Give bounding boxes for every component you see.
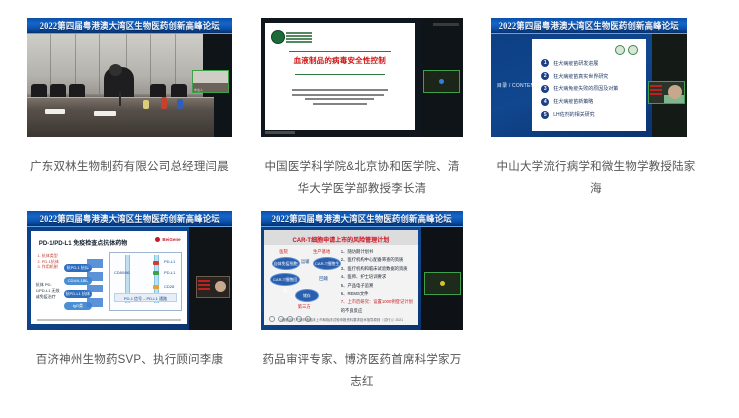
picture-in-picture-2 [423, 70, 460, 93]
slide-title-5: CAR-T细胞申请上市的风险管理计划 [264, 235, 418, 244]
risk-item-1: 1、随访期计划书 [341, 249, 413, 255]
forum-banner-1: 2022第四届粤港澳大湾区生物医药创新高峰论坛 [27, 18, 232, 33]
slide-logos [615, 45, 638, 55]
cycle-label-infusion: 回输 [319, 276, 328, 282]
gallery-caption-3: 中山大学流行病学和微生物学教授陆家海 [491, 156, 701, 200]
presentation-slide-3: 1 狂犬病疫苗研发进展 2 狂犬病疫苗真实世界研究 3 狂犬病免疫失败的原因及对… [532, 39, 646, 131]
marker-4: CD28 [164, 284, 174, 289]
gallery-item-1[interactable]: 2022第四届粤港澳大湾区生物医药创新高峰论坛 [27, 18, 261, 211]
toc-number: 3 [541, 85, 549, 93]
slide-footnote: 《细胞治疗产品申请临床上市和临床试验申报资料要求技术指导原则（试行）》2021 [269, 317, 413, 322]
risk-plan-list: 1、随访期计划书 2、医疗机构中心配备筛查的资质 3、医疗机构和临床试验数据的资… [341, 249, 413, 316]
presentation-slide-2: 血液制品的病毒安全性控制 [265, 23, 414, 130]
video-thumbnail-2[interactable]: 血液制品的病毒安全性控制 [261, 18, 463, 137]
status-strip [265, 131, 295, 134]
forum-banner-title: 2022第四届粤港澳大湾区生物医药创新高峰论坛 [272, 212, 452, 225]
banner-underline [261, 226, 463, 227]
toc-label: LH佐剂的相关研究 [553, 111, 594, 118]
toc-label: 狂犬病疫苗真实世界研究 [553, 73, 608, 80]
cycle-node-3: CAR-T细胞回输 [270, 273, 300, 286]
picture-in-picture-3 [648, 81, 685, 104]
risk-item-4: 4、医师、护士培训要求 [341, 274, 413, 280]
slide-affiliation-block [292, 89, 388, 107]
gallery-caption-5: 药品审评专家、博济医药首席科学家万志红 [261, 349, 463, 393]
risk-item-2: 2、医疗机构中心配备筛查的资质 [341, 257, 413, 263]
pathway-diagram: PD-L1 PD-L1 CD80/86 CD28 CTLA-4 PD-1 信号 … [109, 252, 183, 311]
risk-item-6: 6、REMS文件 [341, 291, 413, 297]
gallery-item-3[interactable]: 2022第四届粤港澳大湾区生物医药创新高峰论坛 目录 / CONTENTS 1 … [491, 18, 739, 211]
toc-label: 狂犬病疫苗研发进展 [553, 60, 598, 67]
banner-underline [27, 33, 232, 34]
presentation-slide-4: PD-1/PD-L1 免疫检查点抗体药物 BeiGene 1. 抗体类型 2. … [31, 231, 187, 324]
toc-number: 5 [541, 111, 549, 119]
marker-2: PD-L1 [164, 270, 175, 275]
diagram-footer: PD-1 信号 – PD-L1 通路 [110, 296, 182, 302]
gallery-caption-4: 百济神州生物药SVP、执行顾问李康 [27, 349, 232, 371]
cycle-label-thirdparty: 第三方 [298, 304, 311, 310]
toc-label: 狂犬病免疫失败的原因及对策 [553, 85, 618, 92]
forum-banner-3: 2022第四届粤港澳大湾区生物医药创新高峰论坛 [491, 18, 687, 33]
risk-item-8: 的不良反应 [341, 308, 413, 314]
video-stage-3: 目录 / CONTENTS 1 狂犬病疫苗研发进展 2 狂犬病疫苗真实世界研究 … [491, 34, 687, 137]
cycle-label-plant: 生产基地 [313, 249, 330, 255]
banner-underline [27, 226, 232, 227]
banner-underline [491, 33, 687, 34]
video-stage-5: CAR-T细胞申请上市的风险管理计划 1、随访期计划书 2、医疗机构中心配备筛查… [261, 227, 463, 330]
marker-3: CD80/86 [114, 270, 130, 275]
toc-label: 狂犬病疫苗新策略 [553, 98, 593, 105]
video-stage-2: 血液制品的病毒安全性控制 [261, 18, 463, 137]
gallery-item-4[interactable]: 2022第四届粤港澳大湾区生物医药创新高峰论坛 PD-1/PD-L1 免疫检查点… [27, 211, 261, 406]
toc-number: 4 [541, 98, 549, 106]
gallery-item-2[interactable]: 血液制品的病毒安全性控制 中国医学科学院&北京协和医学院、清华大学医学部教授李长… [261, 18, 491, 211]
slide-title-4: PD-1/PD-L1 免疫检查点抗体药物 [39, 238, 127, 247]
forum-banner-title: 2022第四届粤港澳大湾区生物医药创新高峰论坛 [499, 19, 679, 32]
video-thumbnail-4[interactable]: 2022第四届粤港澳大湾区生物医药创新高峰论坛 PD-1/PD-L1 免疫检查点… [27, 211, 232, 330]
brand-name: BeiGene [162, 237, 180, 242]
video-stage-1: 参会人 [27, 34, 232, 137]
risk-item-7: 7、上市后研究：设置1000例登记计划 [341, 299, 413, 305]
presentation-slide-5: CAR-T细胞申请上市的风险管理计划 1、随访期计划书 2、医疗机构中心配备筛查… [264, 230, 418, 325]
brand-logo: BeiGene [155, 237, 180, 242]
toolbar-strip [433, 23, 459, 26]
risk-item-5: 5、产品电子追溯 [341, 283, 413, 289]
video-thumbnail-5[interactable]: 2022第四届粤港澳大湾区生物医药创新高峰论坛 CAR-T细胞申请上市的风险管理… [261, 211, 463, 330]
cycle-label-hospital: 医院 [279, 249, 288, 255]
cycle-node-4: 储存 [295, 289, 319, 302]
slide-title-2: 血液制品的病毒安全性控制 [265, 55, 414, 66]
risk-item-3: 3、医疗机构和临床试验数据的资质 [341, 266, 413, 272]
institution-logo-text [286, 32, 312, 44]
side-note-3: 3. 作用机制 [37, 264, 57, 270]
image-gallery: 2022第四届粤港澳大湾区生物医药创新高峰论坛 [0, 0, 739, 406]
video-stage-4: PD-1/PD-L1 免疫检查点抗体药物 BeiGene 1. 抗体类型 2. … [27, 227, 232, 330]
forum-banner-5: 2022第四届粤港澳大湾区生物医药创新高峰论坛 [261, 211, 463, 226]
cycle-label-transport: 运输 [301, 259, 310, 265]
left-group-label: 抗体 PD-1/PD-L1 无效或免疫治疗 [36, 282, 61, 300]
pip-label: 参会人 [194, 88, 203, 92]
forum-banner-title: 2022第四届粤港澳大湾区生物医药创新高峰论坛 [39, 212, 219, 225]
picture-in-picture-5 [424, 272, 461, 295]
institution-logo-icon [271, 30, 285, 44]
picture-in-picture-4 [196, 276, 230, 298]
forum-banner-4: 2022第四届粤港澳大湾区生物医药创新高峰论坛 [27, 211, 232, 226]
forum-banner-title: 2022第四届粤港澳大湾区生物医药创新高峰论坛 [39, 19, 219, 32]
cycle-node-2: CAR-T细胞生产 [313, 257, 341, 270]
picture-in-picture-1: 参会人 [192, 70, 229, 93]
video-thumbnail-3[interactable]: 2022第四届粤港澳大湾区生物医药创新高峰论坛 目录 / CONTENTS 1 … [491, 18, 687, 137]
toc-number: 1 [541, 59, 549, 67]
slide-references [37, 319, 180, 321]
gallery-item-5[interactable]: 2022第四届粤港澳大湾区生物医药创新高峰论坛 CAR-T细胞申请上市的风险管理… [261, 211, 491, 406]
cycle-node-1: 自体免疫细胞 [272, 257, 300, 270]
toc-number: 2 [541, 72, 549, 80]
gallery-caption-2: 中国医学科学院&北京协和医学院、清华大学医学部教授李长清 [261, 156, 463, 200]
gallery-caption-1: 广东双林生物制药有限公司总经理闫晨 [27, 156, 232, 178]
video-thumbnail-1[interactable]: 2022第四届粤港澳大湾区生物医药创新高峰论坛 [27, 18, 232, 137]
marker-1: PD-L1 [164, 259, 175, 264]
meeting-room-photo [27, 34, 203, 137]
